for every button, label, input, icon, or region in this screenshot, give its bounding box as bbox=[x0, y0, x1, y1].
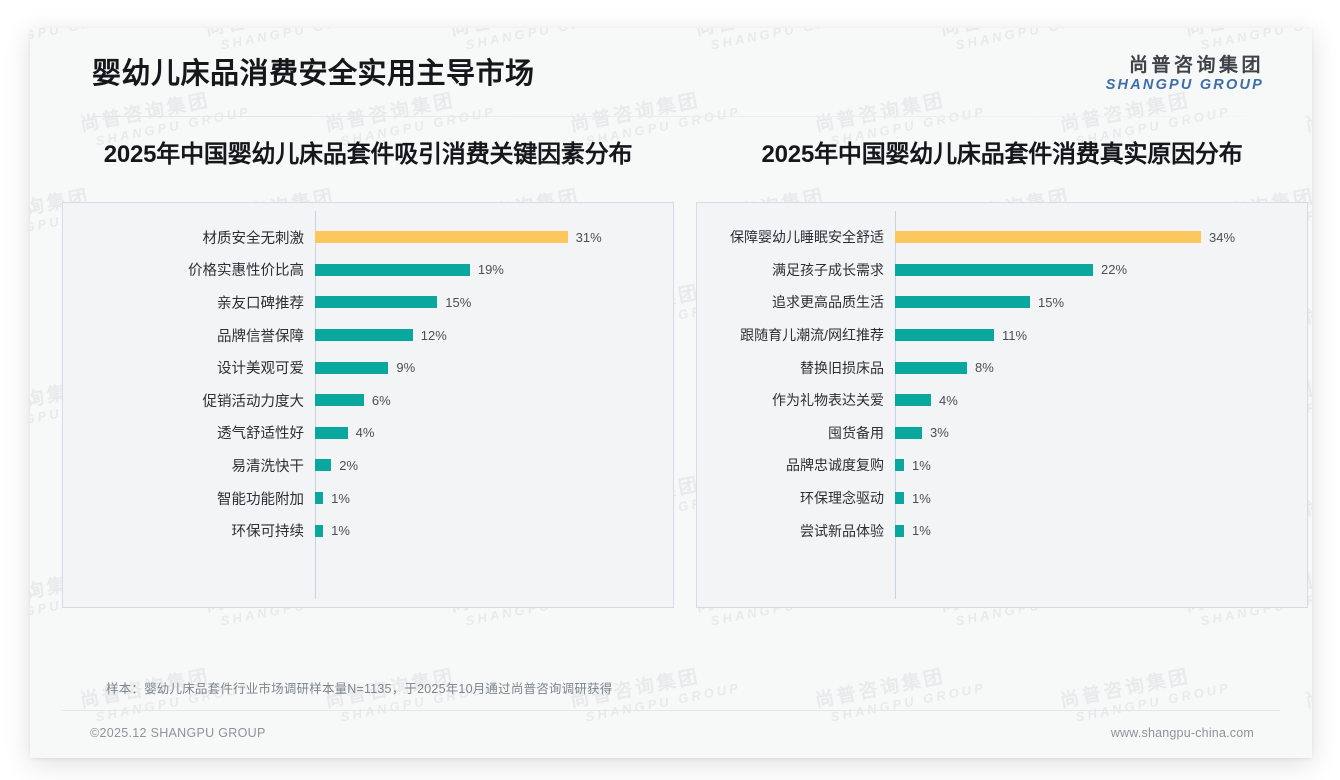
copyright-text: ©2025.12 SHANGPU GROUP bbox=[90, 726, 266, 740]
bar-category-label: 尝试新品体验 bbox=[697, 521, 895, 541]
bar-value-label: 1% bbox=[912, 491, 931, 506]
bar-value-label: 34% bbox=[1209, 230, 1235, 245]
slide-footer: ©2025.12 SHANGPU GROUP www.shangpu-china… bbox=[30, 710, 1312, 758]
bar-segment bbox=[315, 394, 364, 406]
bar-category-label: 易清洗快干 bbox=[63, 455, 315, 476]
chart-panel-left: 2025年中国婴幼儿床品套件吸引消费关键因素分布 材质安全无刺激31%价格实惠性… bbox=[62, 132, 674, 608]
bar-segment bbox=[895, 492, 904, 504]
bar-row: 囤货备用3% bbox=[697, 417, 1307, 450]
bar-row: 环保理念驱动1% bbox=[697, 482, 1307, 515]
chart-plot-left: 材质安全无刺激31%价格实惠性价比高19%亲友口碑推荐15%品牌信誉保障12%设… bbox=[62, 202, 674, 608]
bar-segment bbox=[895, 362, 967, 374]
bar-row: 易清洗快干2% bbox=[63, 449, 673, 482]
bar-segment bbox=[315, 459, 331, 471]
bar-category-label: 囤货备用 bbox=[697, 423, 895, 443]
bar-segment bbox=[315, 231, 568, 243]
bar-category-label: 满足孩子成长需求 bbox=[697, 260, 895, 280]
bar-value-label: 19% bbox=[478, 262, 504, 277]
bar-value-label: 1% bbox=[912, 458, 931, 473]
bar-segment bbox=[895, 231, 1201, 243]
logo-chinese-text: 尚普咨询集团 bbox=[1106, 55, 1264, 77]
bar-category-label: 智能功能附加 bbox=[63, 488, 315, 509]
bar-category-label: 环保理念驱动 bbox=[697, 488, 895, 508]
sample-footnote: 样本：婴幼儿床品套件行业市场调研样本量N=1135，于2025年10月通过尚普咨… bbox=[106, 678, 612, 697]
bar-row: 品牌信誉保障12% bbox=[63, 319, 673, 352]
bar-category-label: 透气舒适性好 bbox=[63, 422, 315, 443]
bar-value-label: 2% bbox=[339, 458, 358, 473]
bar-row: 材质安全无刺激31% bbox=[63, 221, 673, 254]
header-divider bbox=[92, 116, 1252, 117]
bar-segment bbox=[895, 296, 1030, 308]
chart-plot-right: 保障婴幼儿睡眠安全舒适34%满足孩子成长需求22%追求更高品质生活15%跟随育儿… bbox=[696, 202, 1308, 608]
bar-value-label: 15% bbox=[1038, 295, 1064, 310]
bar-segment bbox=[895, 459, 904, 471]
bar-category-label: 品牌信誉保障 bbox=[63, 325, 315, 346]
bar-value-label: 11% bbox=[1002, 328, 1027, 343]
bar-category-label: 环保可持续 bbox=[63, 520, 315, 541]
bar-rows-left: 材质安全无刺激31%价格实惠性价比高19%亲友口碑推荐15%品牌信誉保障12%设… bbox=[63, 221, 673, 547]
chart-title-right: 2025年中国婴幼儿床品套件消费真实原因分布 bbox=[696, 132, 1308, 178]
bar-category-label: 亲友口碑推荐 bbox=[63, 292, 315, 313]
bar-segment bbox=[895, 394, 931, 406]
slide-header: 婴幼儿床品消费安全实用主导市场 尚普咨询集团 SHANGPU GROUP bbox=[30, 28, 1312, 116]
bar-value-label: 9% bbox=[396, 360, 415, 375]
website-text: www.shangpu-china.com bbox=[1111, 726, 1254, 740]
bar-segment bbox=[895, 525, 904, 537]
bar-row: 跟随育儿潮流/网红推荐11% bbox=[697, 319, 1307, 352]
bar-row: 保障婴幼儿睡眠安全舒适34% bbox=[697, 221, 1307, 254]
bar-segment bbox=[315, 362, 388, 374]
bar-value-label: 1% bbox=[912, 523, 931, 538]
bar-segment bbox=[315, 329, 413, 341]
bar-segment bbox=[315, 264, 470, 276]
bar-row: 价格实惠性价比高19% bbox=[63, 254, 673, 287]
bar-row: 促销活动力度大6% bbox=[63, 384, 673, 417]
bar-category-label: 品牌忠诚度复购 bbox=[697, 455, 895, 475]
bar-value-label: 22% bbox=[1101, 262, 1127, 277]
bar-row: 设计美观可爱9% bbox=[63, 351, 673, 384]
bar-row: 满足孩子成长需求22% bbox=[697, 254, 1307, 287]
chart-panel-right: 2025年中国婴幼儿床品套件消费真实原因分布 保障婴幼儿睡眠安全舒适34%满足孩… bbox=[696, 132, 1308, 608]
bar-category-label: 价格实惠性价比高 bbox=[63, 259, 315, 280]
bar-row: 亲友口碑推荐15% bbox=[63, 286, 673, 319]
bar-value-label: 1% bbox=[331, 491, 350, 506]
bar-segment bbox=[315, 296, 437, 308]
bar-row: 环保可持续1% bbox=[63, 514, 673, 547]
page-title: 婴幼儿床品消费安全实用主导市场 bbox=[92, 50, 535, 92]
bar-value-label: 4% bbox=[939, 393, 958, 408]
brand-logo: 尚普咨询集团 SHANGPU GROUP bbox=[1106, 55, 1264, 94]
bar-segment bbox=[315, 525, 323, 537]
bar-segment bbox=[895, 329, 994, 341]
bar-category-label: 作为礼物表达关爱 bbox=[697, 390, 895, 410]
bar-row: 尝试新品体验1% bbox=[697, 514, 1307, 547]
bar-category-label: 促销活动力度大 bbox=[63, 390, 315, 411]
bar-value-label: 15% bbox=[445, 295, 471, 310]
bar-row: 品牌忠诚度复购1% bbox=[697, 449, 1307, 482]
bar-value-label: 12% bbox=[421, 328, 447, 343]
bar-value-label: 8% bbox=[975, 360, 994, 375]
bar-category-label: 保障婴幼儿睡眠安全舒适 bbox=[697, 227, 895, 247]
bar-category-label: 设计美观可爱 bbox=[63, 357, 315, 378]
bar-row: 追求更高品质生活15% bbox=[697, 286, 1307, 319]
bar-row: 作为礼物表达关爱4% bbox=[697, 384, 1307, 417]
bar-category-label: 材质安全无刺激 bbox=[63, 227, 315, 248]
bar-value-label: 6% bbox=[372, 393, 391, 408]
bar-rows-right: 保障婴幼儿睡眠安全舒适34%满足孩子成长需求22%追求更高品质生活15%跟随育儿… bbox=[697, 221, 1307, 547]
bar-category-label: 替换旧损床品 bbox=[697, 358, 895, 378]
slide-card: 尚普咨询集团SHANGPU GROUP尚普咨询集团SHANGPU GROUP尚普… bbox=[30, 28, 1312, 758]
bar-value-label: 3% bbox=[930, 425, 949, 440]
bar-row: 替换旧损床品8% bbox=[697, 351, 1307, 384]
bar-segment bbox=[895, 264, 1093, 276]
logo-english-text: SHANGPU GROUP bbox=[1106, 77, 1264, 94]
chart-title-left: 2025年中国婴幼儿床品套件吸引消费关键因素分布 bbox=[62, 132, 674, 178]
bar-segment bbox=[315, 492, 323, 504]
bar-value-label: 1% bbox=[331, 523, 350, 538]
bar-segment bbox=[315, 427, 348, 439]
bar-segment bbox=[895, 427, 922, 439]
bar-category-label: 追求更高品质生活 bbox=[697, 292, 895, 312]
bar-row: 智能功能附加1% bbox=[63, 482, 673, 515]
bar-row: 透气舒适性好4% bbox=[63, 417, 673, 450]
bar-value-label: 4% bbox=[356, 425, 375, 440]
bar-value-label: 31% bbox=[576, 230, 602, 245]
bar-category-label: 跟随育儿潮流/网红推荐 bbox=[697, 325, 895, 345]
